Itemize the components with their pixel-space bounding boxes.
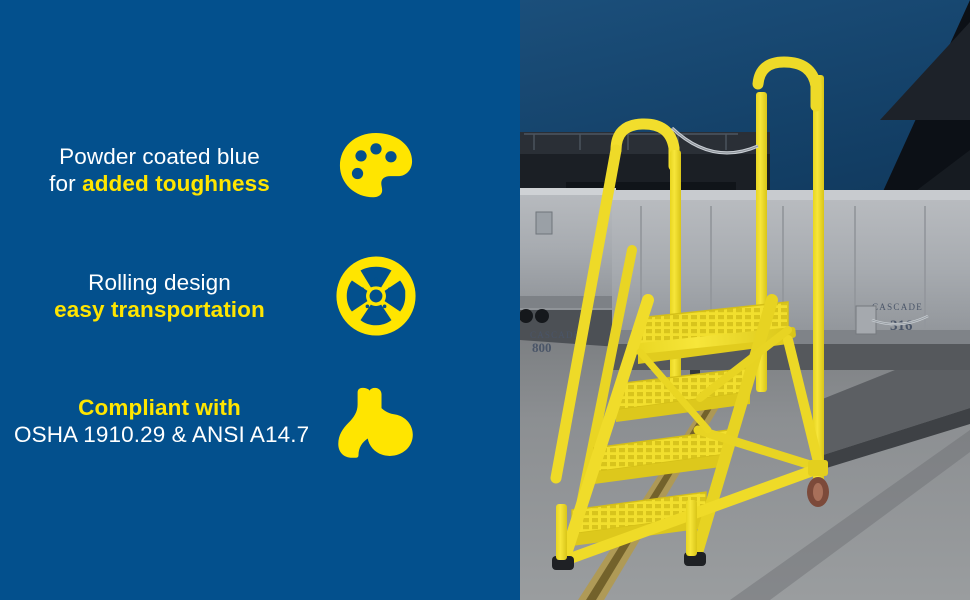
feature-line-2: OSHA 1910.29 & ANSI A14.7 (14, 421, 305, 448)
feature-line-1-highlight: Compliant with (14, 394, 305, 421)
feature-line-1: Powder coated blue (14, 143, 305, 170)
feature-line-2-highlight: added toughness (82, 171, 270, 196)
paint-palette-icon (321, 120, 431, 220)
feature-text-powder-coated: Powder coated blue for added toughness (0, 143, 305, 198)
trailer-number-left: 800 (532, 340, 552, 355)
flexed-bicep-icon (321, 371, 431, 471)
feature-line-2-prefix: for (49, 171, 82, 196)
features-panel: Powder coated blue for added toughness R… (0, 0, 520, 600)
product-photo: CASCADE 800 CASCADE 316 (520, 0, 970, 600)
product-feature-banner: Powder coated blue for added toughness R… (0, 0, 970, 600)
wheel-icon (321, 246, 431, 346)
feature-row-powder-coated: Powder coated blue for added toughness (0, 118, 520, 222)
caster-wheel (807, 460, 829, 507)
trailer-brand-left: CASCADE (530, 330, 580, 340)
feature-row-compliance: Compliant with OSHA 1910.29 & ANSI A14.7 (0, 368, 520, 474)
trailer-brand-right: CASCADE (872, 302, 923, 312)
feature-row-rolling-design: Rolling design easy transportation (0, 244, 520, 348)
feature-line-2-highlight: easy transportation (54, 297, 265, 322)
feature-line-1: Rolling design (14, 269, 305, 296)
trailer-number-right: 316 (890, 318, 913, 334)
feature-text-compliance: Compliant with OSHA 1910.29 & ANSI A14.7 (0, 394, 305, 449)
feature-text-rolling-design: Rolling design easy transportation (0, 269, 305, 324)
